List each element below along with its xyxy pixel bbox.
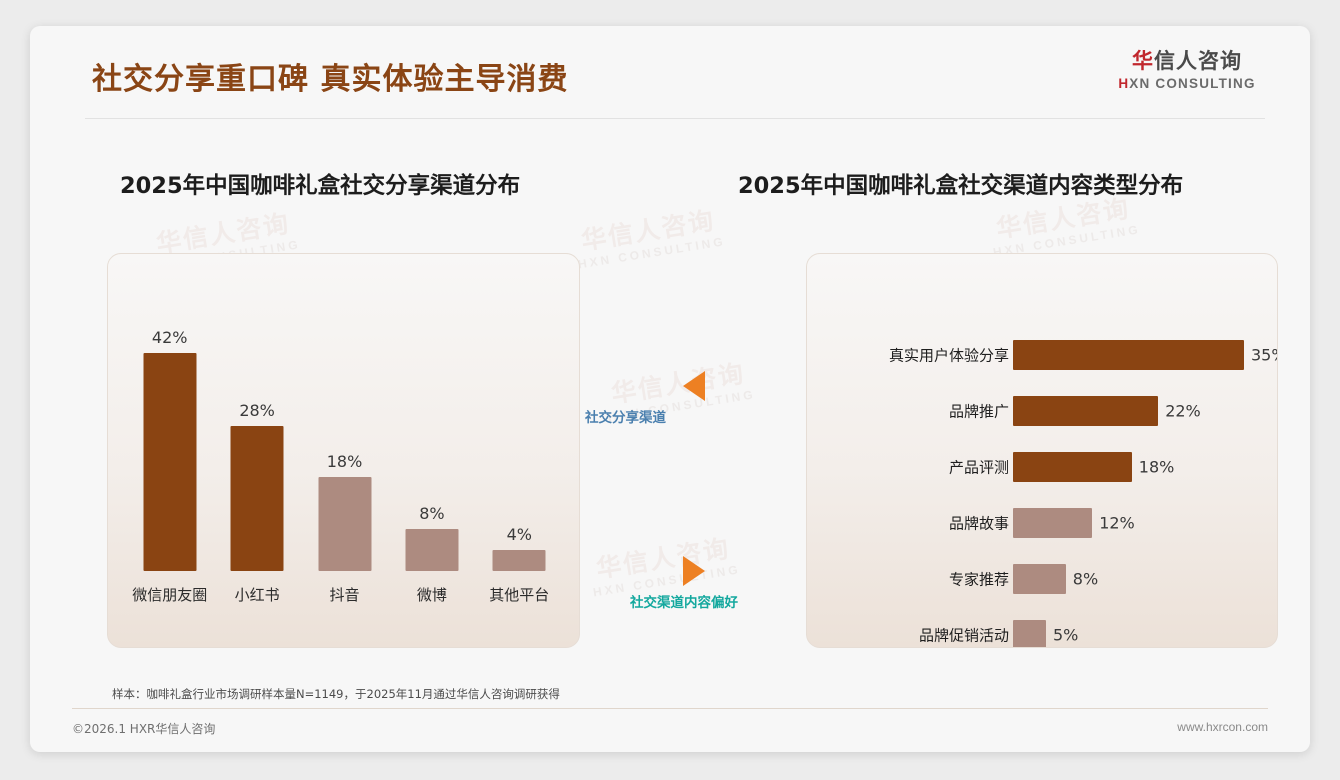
column-value-label: 4% — [507, 525, 532, 544]
watermark-cn: 华信人咨询 — [603, 360, 754, 408]
column-chart-plot: 42%微信朋友圈28%小红书18%抖音8%微博4%其他平台 — [126, 274, 563, 629]
bar-category-label: 品牌故事 — [949, 513, 1009, 534]
bar-row: 品牌推广22% — [807, 396, 1278, 426]
column-group: 4%其他平台 — [475, 274, 563, 629]
bar-fill[interactable] — [1013, 452, 1132, 482]
bar-fill[interactable] — [1013, 340, 1244, 370]
slide-canvas: 社交分享重口碑 真实体验主导消费 华信人咨询 HXN CONSULTING 20… — [30, 26, 1310, 752]
bar-value-label: 22% — [1165, 402, 1201, 421]
chart-title-right: 2025年中国咖啡礼盒社交渠道内容类型分布 — [738, 168, 1183, 200]
column-group: 28%小红书 — [213, 274, 301, 629]
column-bar[interactable] — [405, 529, 458, 571]
watermark-cn: 华信人咨询 — [588, 535, 739, 583]
bar-value-label: 12% — [1099, 514, 1135, 533]
bar-category-label: 专家推荐 — [949, 569, 1009, 590]
column-category-label: 小红书 — [235, 584, 280, 605]
website-link[interactable]: www.hxrcon.com — [1177, 720, 1268, 734]
bar-value-label: 18% — [1139, 458, 1175, 477]
sample-footnote: 样本：咖啡礼盒行业市场调研样本量N=1149，于2025年11月通过华信人咨询调… — [112, 686, 560, 702]
logo-cn-red-char: 华 — [1132, 49, 1154, 73]
bar-chart-plot: 真实用户体验分享35%品牌推广22%产品评测18%品牌故事12%专家推荐8%品牌… — [807, 278, 1278, 626]
bar-row: 产品评测18% — [807, 452, 1278, 482]
triangle-left-icon — [683, 371, 705, 401]
annotation-label: 社交分享渠道 — [585, 406, 666, 426]
column-bar[interactable] — [143, 353, 196, 571]
bar-row: 品牌促销活动5% — [807, 620, 1278, 648]
watermark-cn: 华信人咨询 — [988, 195, 1139, 243]
bar-value-label: 35% — [1251, 346, 1278, 365]
column-group: 42%微信朋友圈 — [126, 274, 214, 629]
bar-value-label: 8% — [1073, 570, 1098, 589]
chart-title-left: 2025年中国咖啡礼盒社交分享渠道分布 — [120, 168, 520, 200]
chart-card-left: 42%微信朋友圈28%小红书18%抖音8%微博4%其他平台 — [107, 253, 580, 648]
logo-en-rest: XN CONSULTING — [1129, 76, 1255, 91]
logo-english-text: HXN CONSULTING — [1102, 76, 1272, 91]
bar-row: 品牌故事12% — [807, 508, 1278, 538]
bar-category-label: 产品评测 — [949, 457, 1009, 478]
logo-cn-rest: 信人咨询 — [1154, 49, 1242, 73]
watermark: 华信人咨询 HXN CONSULTING — [573, 207, 727, 272]
column-group: 18%抖音 — [301, 274, 389, 629]
column-bar[interactable] — [318, 477, 371, 571]
bar-category-label: 品牌促销活动 — [919, 625, 1009, 646]
chart-card-right: 真实用户体验分享35%品牌推广22%产品评测18%品牌故事12%专家推荐8%品牌… — [806, 253, 1278, 648]
column-category-label: 微信朋友圈 — [132, 584, 207, 605]
bar-value-label: 5% — [1053, 626, 1078, 645]
bar-fill[interactable] — [1013, 564, 1066, 594]
column-bar[interactable] — [231, 426, 284, 571]
bar-category-label: 真实用户体验分享 — [889, 345, 1009, 366]
column-value-label: 18% — [327, 452, 363, 471]
copyright-text: ©2026.1 HXR华信人咨询 — [72, 720, 215, 737]
brand-logo: 华信人咨询 HXN CONSULTING — [1102, 49, 1272, 91]
bar-row: 真实用户体验分享35% — [807, 340, 1278, 370]
column-value-label: 28% — [239, 401, 275, 420]
column-value-label: 42% — [152, 328, 188, 347]
column-value-label: 8% — [419, 504, 444, 523]
column-category-label: 微博 — [417, 584, 447, 605]
bar-row: 专家推荐8% — [807, 564, 1278, 594]
bar-fill[interactable] — [1013, 396, 1158, 426]
column-category-label: 抖音 — [329, 584, 359, 605]
page-title: 社交分享重口碑 真实体验主导消费 — [92, 54, 568, 98]
watermark: 华信人咨询 HXN CONSULTING — [988, 195, 1142, 260]
header-divider — [85, 118, 1265, 119]
watermark: 华信人咨询 HXN CONSULTING — [588, 535, 742, 600]
bar-fill[interactable] — [1013, 620, 1046, 648]
slide-header: 社交分享重口碑 真实体验主导消费 华信人咨询 HXN CONSULTING — [30, 26, 1310, 118]
watermark-en: HXN CONSULTING — [577, 234, 726, 271]
footer-divider — [72, 708, 1268, 709]
triangle-right-icon — [683, 556, 705, 586]
logo-en-red-char: H — [1118, 76, 1129, 91]
bar-category-label: 品牌推广 — [949, 401, 1009, 422]
column-bar[interactable] — [493, 550, 546, 571]
watermark-cn: 华信人咨询 — [148, 210, 299, 258]
watermark-cn: 华信人咨询 — [573, 207, 724, 255]
logo-chinese-text: 华信人咨询 — [1102, 49, 1272, 73]
bar-fill[interactable] — [1013, 508, 1092, 538]
column-category-label: 其他平台 — [489, 584, 549, 605]
column-group: 8%微博 — [388, 274, 476, 629]
annotation-label: 社交渠道内容偏好 — [630, 591, 738, 611]
